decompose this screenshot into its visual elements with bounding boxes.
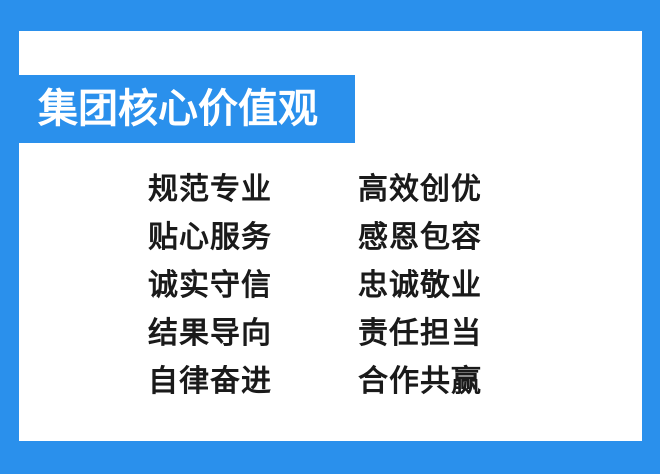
value-item: 高效创优 <box>358 175 493 205</box>
value-item: 结果导向 <box>148 319 358 349</box>
value-item: 责任担当 <box>358 319 493 349</box>
values-grid: 规范专业 高效创优 贴心服务 感恩包容 诚实守信 忠诚敬业 结果导向 责任担当 … <box>148 166 493 406</box>
value-row: 结果导向 责任担当 <box>148 310 493 358</box>
core-values-poster: 集团核心价值观 规范专业 高效创优 贴心服务 感恩包容 诚实守信 忠诚敬业 结果… <box>0 0 660 474</box>
value-item: 合作共赢 <box>358 367 493 397</box>
value-row: 诚实守信 忠诚敬业 <box>148 262 493 310</box>
value-item: 贴心服务 <box>148 223 358 253</box>
value-item: 感恩包容 <box>358 223 493 253</box>
value-row: 规范专业 高效创优 <box>148 166 493 214</box>
value-item: 诚实守信 <box>148 271 358 301</box>
value-item: 忠诚敬业 <box>358 271 493 301</box>
page-title: 集团核心价值观 <box>38 89 318 129</box>
value-row: 自律奋进 合作共赢 <box>148 358 493 406</box>
value-item: 自律奋进 <box>148 367 358 397</box>
value-item: 规范专业 <box>148 175 358 205</box>
value-row: 贴心服务 感恩包容 <box>148 214 493 262</box>
title-banner: 集团核心价值观 <box>0 75 355 143</box>
